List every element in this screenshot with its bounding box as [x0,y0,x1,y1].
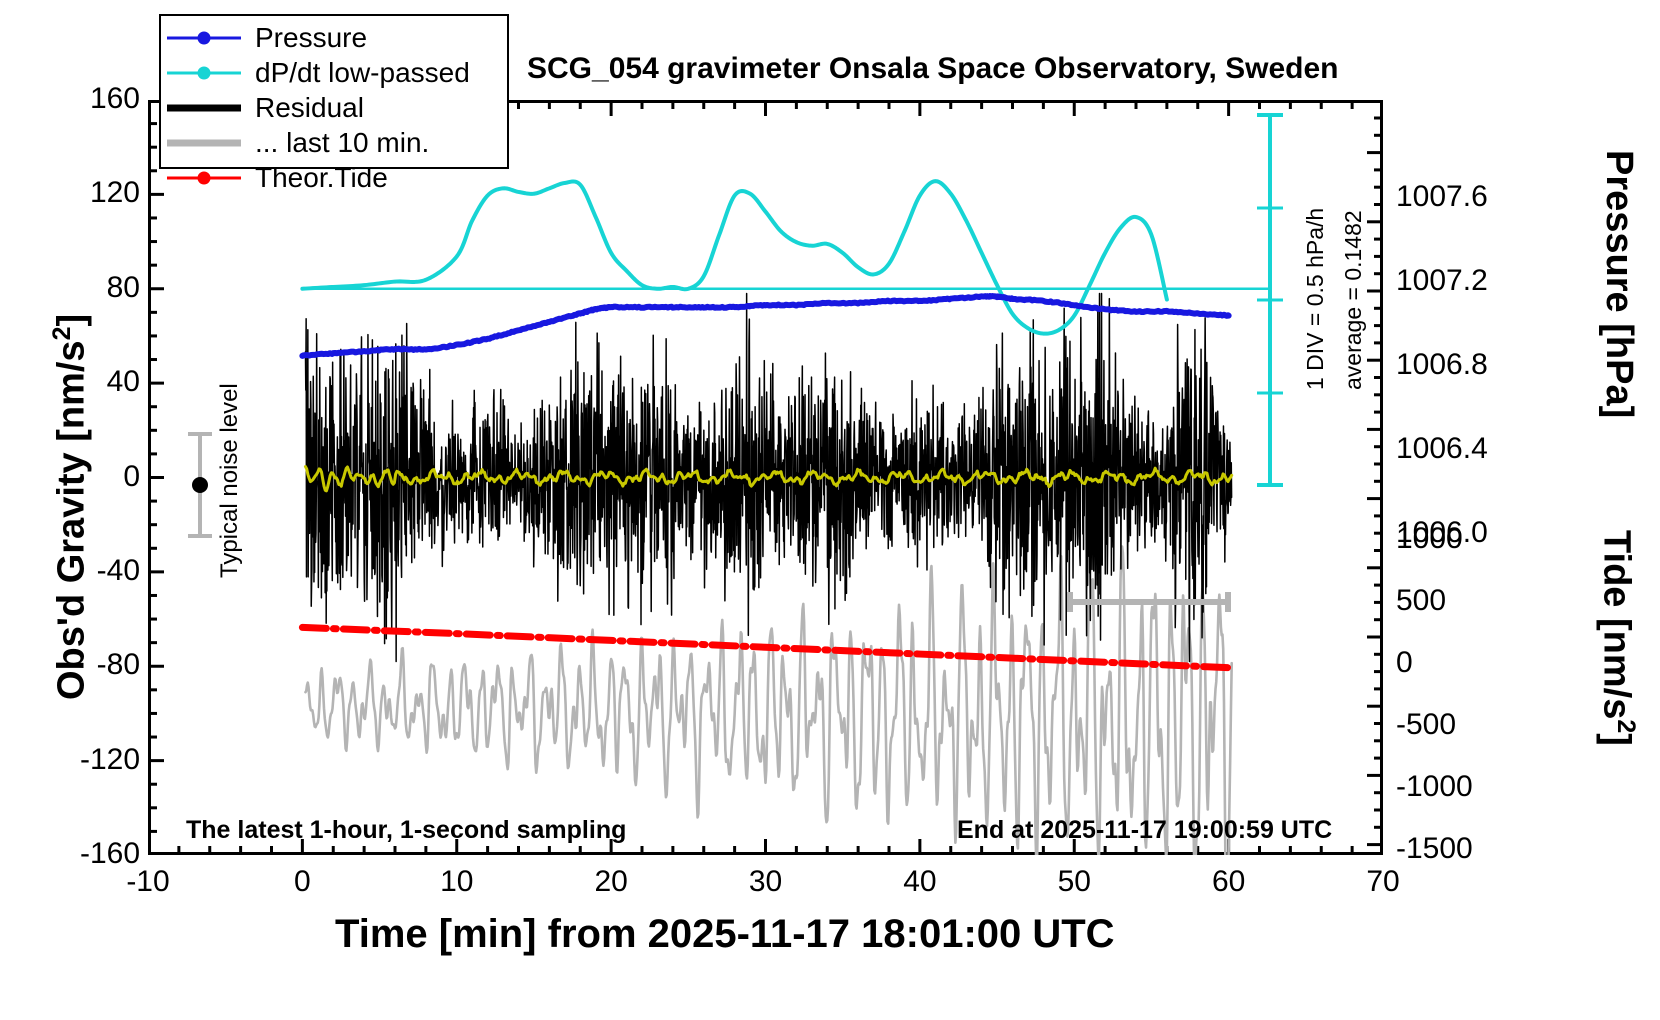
tick-label: -1000 [1396,770,1473,804]
tick-label: 40 [903,865,936,899]
left-axis-title: Obs'd Gravity [nm/s2] [48,314,94,700]
footer-left-note: The latest 1-hour, 1-second sampling [186,816,626,845]
tick-label: 40 [107,365,140,399]
tick-label: 80 [107,271,140,305]
dpdt-average-label: average = 0.1482 [1340,210,1367,390]
footer-right-note: End at 2025-11-17 19:00:59 UTC [957,816,1332,845]
legend-item-label: ... last 10 min. [255,127,429,159]
left-axis-title-text: Obs'd Gravity [nm/s [51,340,93,700]
legend-item-3: ... last 10 min. [161,125,507,160]
tick-label: 1006.8 [1396,348,1488,382]
tick-label: 60 [1212,865,1245,899]
tick-label: 0 [123,460,140,494]
tick-label: 10 [440,865,473,899]
tick-label: 160 [90,82,140,116]
tick-label: 1007.6 [1396,180,1488,214]
legend-item-4: Theor.Tide [161,160,507,195]
right-tide-axis-title-tail: ] [1595,733,1637,746]
tick-label: 70 [1366,865,1399,899]
tick-label: 1007.2 [1396,264,1488,298]
series-pressure [302,296,1228,356]
right-tide-axis-title: Tide [nm/s2] [1594,530,1640,746]
legend-item-label: Pressure [255,22,367,54]
tick-label: -80 [97,648,140,682]
legend-item-label: Theor.Tide [255,162,388,194]
legend-item-label: dP/dt low-passed [255,57,470,89]
left-axis-title-sup: 2 [48,327,76,341]
legend-item-1: dP/dt low-passed [161,55,507,90]
tick-label: -1500 [1396,832,1473,866]
tick-label: 50 [1058,865,1091,899]
page-title: SCG_054 gravimeter Onsala Space Observat… [527,52,1339,86]
right-tide-axis-title-text: Tide [nm/s [1595,530,1637,719]
tick-label: -10 [126,865,169,899]
right-tide-axis-title-sup: 2 [1612,719,1640,733]
legend-item-0: Pressure [161,20,507,55]
tick-label: 120 [90,176,140,210]
gravimeter-plot-page: 16012080400-40-80-120-160 -1001020304050… [0,0,1660,1020]
tick-label: -500 [1396,708,1456,742]
right-pressure-axis-title: Pressure [hPa] [1597,150,1640,418]
tick-label: 20 [594,865,627,899]
legend-swatch-icon [161,55,247,90]
last-10-min-bar [1066,590,1232,614]
legend: PressuredP/dt low-passedResidual... last… [159,14,509,169]
typical-noise-level-marker [180,430,220,540]
tick-label: 30 [749,865,782,899]
dpdt-scale-bar [1250,110,1290,490]
tick-label: 1006.4 [1396,432,1488,466]
chart-data-layer [148,100,1383,855]
legend-item-label: Residual [255,92,364,124]
bottom-axis-title: Time [min] from 2025-11-17 18:01:00 UTC [335,912,1115,957]
legend-swatch-icon [161,20,247,55]
legend-swatch-icon [161,125,247,160]
left-axis-title-tail: ] [51,314,93,327]
legend-swatch-icon [161,90,247,125]
tick-label: -40 [97,554,140,588]
tick-label: 0 [294,865,311,899]
tick-label: -120 [80,743,140,777]
legend-item-2: Residual [161,90,507,125]
series-theor-tide [302,627,1228,667]
tick-label: 500 [1396,584,1446,618]
typical-noise-level-label: Typical noise level [216,383,244,578]
tick-label: 1000 [1396,522,1463,556]
tick-label: 0 [1396,646,1413,680]
dpdt-division-label: 1 DIV = 0.5 hPa/h [1302,208,1329,390]
legend-swatch-icon [161,160,247,195]
